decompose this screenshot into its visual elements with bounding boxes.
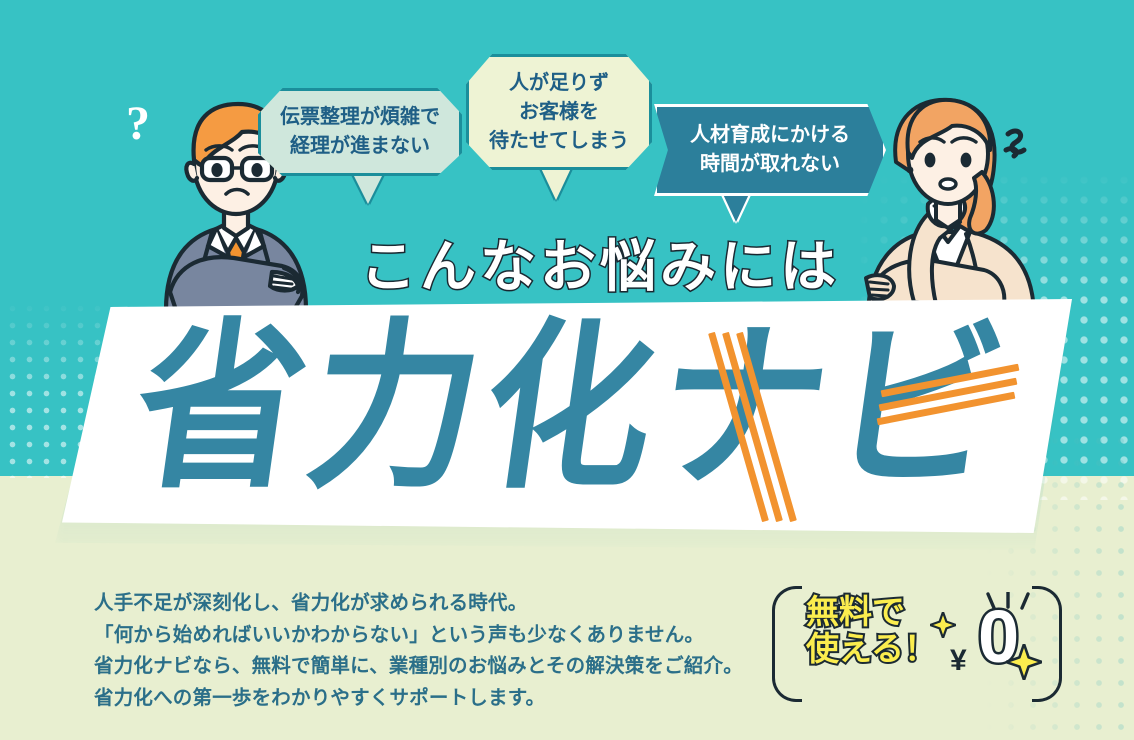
copy-line-3: 省力化ナビなら、無料で簡単に、業種別のお悩みとその解決策をご紹介。	[94, 651, 743, 683]
businesswoman-illustration	[856, 92, 1046, 312]
hero-banner: ?	[0, 0, 1134, 740]
badge-text: 無料で 使える！	[806, 594, 937, 668]
copy-line-1: 人手不足が深刻化し、省力化が求められる時代。	[94, 588, 743, 620]
bubble-2-line-2: お客様を	[519, 98, 599, 127]
yen-symbol: ¥	[950, 644, 967, 678]
bubble-2-tail-icon	[540, 166, 572, 200]
speech-bubble-1: 伝票整理が煩雑で 経理が進まない	[258, 88, 462, 176]
speech-bubble-2: 人が足りず お客様を 待たせてしまう	[466, 54, 652, 170]
bubble-2-line-3: 待たせてしまう	[489, 127, 629, 156]
speech-bubble-3: 人材育成にかける 時間が取れない	[654, 104, 886, 196]
sparkle-icon	[1006, 644, 1042, 685]
badge-line-1: 無料で	[806, 594, 937, 631]
copy-line-2: 「何から始めればいいかわからない」という声も少なくありません。	[94, 620, 743, 652]
copy-line-4: 省力化への第一歩をわかりやすくサポートします。	[94, 683, 743, 715]
bubble-1-line-2: 経理が進まない	[290, 132, 430, 161]
bubble-3-line-1: 人材育成にかける	[690, 121, 850, 150]
bubble-2-line-1: 人が足りず	[509, 69, 609, 98]
bracket-left-icon	[772, 586, 802, 702]
bubble-3-line-2: 時間が取れない	[700, 150, 840, 179]
badge-line-2: 使える！	[806, 631, 937, 668]
description-copy: 人手不足が深刻化し、省力化が求められる時代。 「何から始めればいいかわからない」…	[94, 588, 743, 714]
sparkle-icon	[930, 612, 956, 643]
bubble-1-line-1: 伝票整理が煩雑で	[280, 103, 440, 132]
free-to-use-badge: 無料で 使える！ ¥ 0	[772, 586, 1062, 702]
burst-lines-icon	[980, 592, 1036, 619]
bubble-1-tail-icon	[352, 172, 384, 204]
logo-wrapper: 省力化ナビ	[0, 299, 1134, 533]
bubble-3-tail-icon	[722, 192, 750, 222]
page-headline: こんなお悩みには	[360, 222, 840, 303]
